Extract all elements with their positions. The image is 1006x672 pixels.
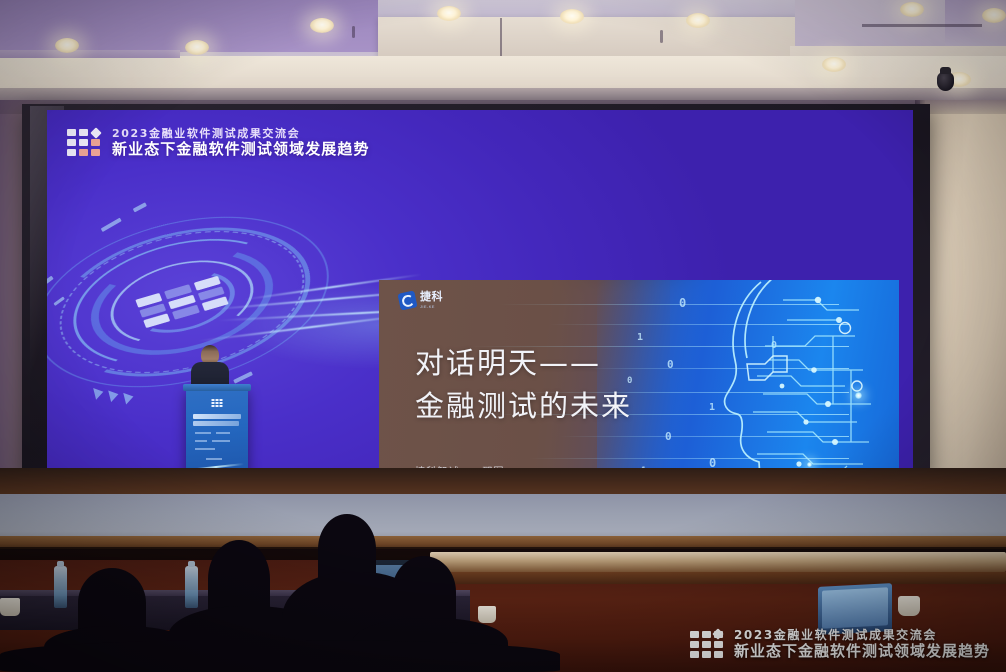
paper-cup: [0, 598, 20, 616]
water-bottle: [185, 566, 198, 608]
slide-title-line1: 对话明天——: [415, 342, 632, 385]
podium-grid-icon: [212, 399, 223, 407]
circuit-spark: [807, 462, 812, 467]
front-rail-shadow: [430, 572, 1006, 584]
downlight-icon: [560, 9, 584, 24]
paper-cup: [898, 596, 920, 616]
slide-logo-sub: JIE-KE: [420, 305, 443, 309]
security-camera-icon: [937, 72, 954, 91]
downlight-icon: [686, 13, 710, 28]
watermark-line1: 2023金融业软件测试成果交流会: [734, 629, 990, 643]
screen-header-line1: 2023金融业软件测试成果交流会: [112, 128, 370, 141]
binary-digit: 0: [667, 358, 674, 371]
podium-subtext: [212, 440, 230, 442]
front-rail: [430, 552, 1006, 572]
ceiling-soffit-center: [378, 17, 798, 57]
audience-body: [0, 640, 560, 672]
nine-square-grid-icon: [690, 631, 723, 658]
slide-title-line2: 金融测试的未来: [415, 385, 632, 428]
downlight-icon: [982, 8, 1006, 23]
podium-subtext: [195, 440, 207, 442]
watermark-line2: 新业态下金融软件测试领域发展趋势: [734, 643, 990, 660]
podium-title-bar: [193, 421, 239, 426]
water-bottle: [54, 566, 67, 608]
binary-digit: 0: [679, 296, 686, 310]
watermark: 2023金融业软件测试成果交流会 新业态下金融软件测试领域发展趋势: [690, 629, 990, 660]
screen-header-line2: 新业态下金融软件测试领域发展趋势: [112, 141, 370, 158]
ceiling-seam: [862, 24, 982, 27]
podium-subtext: [195, 432, 211, 434]
ceiling-seam: [660, 30, 663, 43]
nine-square-grid-icon: [67, 129, 100, 156]
presentation-slide: 0 1 0 0 1 0 0 1 0: [379, 280, 899, 468]
screen-brand: 2023金融业软件测试成果交流会 新业态下金融软件测试领域发展趋势: [67, 128, 370, 158]
binary-digit: 0: [665, 430, 672, 443]
binary-digit: 1: [637, 332, 643, 343]
downlight-icon: [900, 2, 924, 17]
slide-title: 对话明天—— 金融测试的未来: [415, 342, 632, 428]
downlight-icon: [185, 40, 209, 55]
podium-top: [183, 384, 251, 391]
ceiling-edge-left: [0, 50, 180, 58]
led-screen: 2023金融业软件测试成果交流会 新业态下金融软件测试领域发展趋势 0 1 0: [47, 110, 913, 468]
paper-cup: [478, 606, 496, 623]
downlight-icon: [55, 38, 79, 53]
downlight-icon: [437, 6, 461, 21]
circuit-spark: [855, 392, 862, 399]
wall-right: [920, 100, 1006, 500]
jieke-logo-icon: [397, 290, 417, 310]
ceiling: [0, 0, 1006, 108]
slide-logo-name: 捷科: [420, 292, 443, 303]
podium-title-bar: [193, 414, 241, 419]
ceiling-seam: [352, 26, 355, 38]
podium-subtext: [216, 432, 230, 434]
conference-photo: 2023金融业软件测试成果交流会 新业态下金融软件测试领域发展趋势 0 1 0: [0, 0, 1006, 672]
ai-circuit-face-icon: [687, 280, 877, 468]
ceiling-seam: [500, 18, 502, 56]
downlight-icon: [310, 18, 334, 33]
downlight-icon: [822, 57, 846, 72]
slide-logo: 捷科 JIE-KE: [399, 292, 443, 309]
